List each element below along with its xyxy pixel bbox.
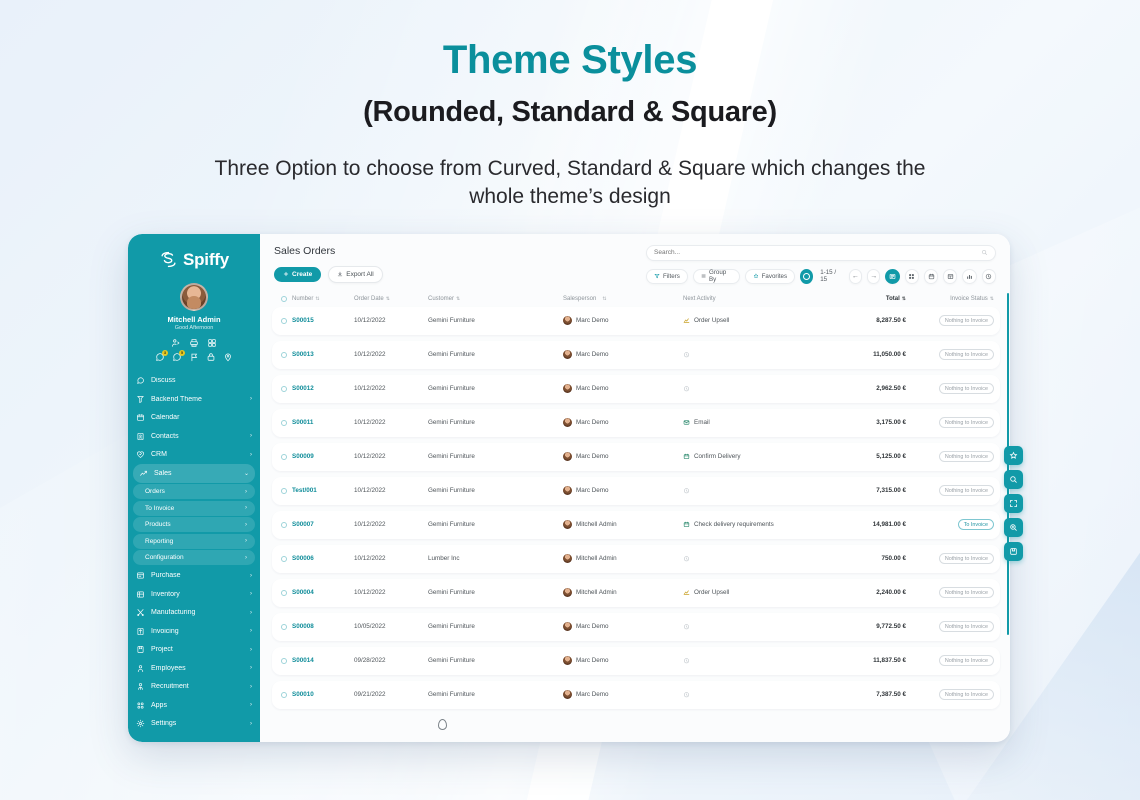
column-header-salesperson[interactable]: Salesperson⇅ — [563, 296, 683, 302]
activity-view-icon — [985, 273, 992, 280]
row-checkbox[interactable] — [276, 692, 292, 698]
user-greeting: Good Afternoon — [128, 325, 260, 331]
cell-invoice-status: Nothing to Invoice — [906, 485, 994, 496]
cell-next-activity — [683, 623, 836, 630]
sidebar-item-label: Manufacturing — [151, 609, 244, 616]
avatar — [563, 588, 572, 597]
sales-icon — [139, 469, 148, 478]
cell-order-date: 10/12/2022 — [354, 555, 428, 562]
calendar-check-icon — [683, 521, 690, 528]
cell-customer: Gemini Furniture — [428, 385, 563, 392]
cell-customer: Gemini Furniture — [428, 317, 563, 324]
sidebar-item-recruitment[interactable]: Recruitment › — [128, 678, 260, 697]
cell-next-activity: Order Upsell — [683, 317, 836, 324]
cell-salesperson: Marc Demo — [563, 452, 683, 461]
sidebar-item-employees[interactable]: Employees › — [128, 659, 260, 678]
radio-icon — [281, 318, 287, 324]
radio-icon — [281, 420, 287, 426]
cell-next-activity — [683, 351, 836, 358]
chevron-right-icon: › — [250, 684, 252, 690]
sort-icon: ⇅ — [456, 296, 460, 302]
table-row[interactable]: S0001210/12/2022Gemini FurnitureMarc Dem… — [272, 375, 1000, 403]
column-header-invoice-status[interactable]: Invoice Status⇅ — [906, 296, 994, 302]
table-zone: Number⇅ Order Date⇅ Customer⇅ Salesperso… — [260, 283, 1010, 742]
mouse-cursor — [438, 719, 447, 730]
sidebar-item-crm[interactable]: CRM › — [128, 446, 260, 465]
sidebar-menu: Discuss Backend Theme › Calendar Contact… — [128, 372, 260, 742]
cell-number[interactable]: S00014 — [292, 657, 354, 664]
radio-icon — [281, 590, 287, 596]
cell-invoice-status: Nothing to Invoice — [906, 621, 994, 632]
sidebar-subitem-label: Orders — [145, 488, 245, 495]
recruitment-icon — [136, 682, 145, 691]
prev-page-button[interactable]: ← — [849, 269, 862, 284]
next-activity-label: Confirm Delivery — [694, 453, 741, 460]
chevron-right-icon: › — [245, 555, 247, 561]
chevron-right-icon: › — [250, 647, 252, 653]
sidebar-item-backend-theme[interactable]: Backend Theme › — [128, 390, 260, 409]
avatar — [563, 384, 572, 393]
print-icon[interactable] — [189, 338, 199, 348]
quick-icons-row-2: 3 5 — [128, 352, 260, 362]
cell-next-activity — [683, 385, 836, 392]
flag-icon[interactable] — [189, 352, 199, 362]
cell-salesperson: Marc Demo — [563, 656, 683, 665]
zoom-in-rail-icon — [1009, 523, 1018, 532]
cell-invoice-status: Nothing to Invoice — [906, 689, 994, 700]
chevron-right-icon: › — [250, 452, 252, 458]
purchase-icon — [136, 571, 145, 580]
cell-total: 14,981.00 € — [836, 521, 906, 528]
group-by-label: Group By — [709, 269, 732, 283]
list-view-button[interactable] — [885, 269, 899, 284]
row-checkbox[interactable] — [276, 454, 292, 460]
row-checkbox[interactable] — [276, 624, 292, 630]
avatar — [563, 656, 572, 665]
settings-icon — [136, 719, 145, 728]
table-row[interactable]: S0000710/12/2022Gemini FurnitureMitchell… — [272, 511, 1000, 539]
search-input[interactable] — [654, 249, 981, 256]
sidebar-subitem-label: Products — [145, 521, 245, 528]
sidebar-item-label: Project — [151, 646, 244, 653]
filter-icon — [654, 273, 660, 279]
chevron-right-icon: › — [250, 433, 252, 439]
next-activity-label: Order Upsell — [694, 589, 729, 596]
user-block[interactable]: Mitchell Admin Good Afternoon — [128, 283, 260, 331]
cell-invoice-status: Nothing to Invoice — [906, 315, 994, 326]
sidebar-item-contacts[interactable]: Contacts › — [128, 427, 260, 446]
cell-salesperson: Mitchell Admin — [563, 588, 683, 597]
sidebar-subitem-to-invoice[interactable]: To Invoice › — [133, 501, 255, 516]
sidebar-subitem-configuration[interactable]: Configuration › — [133, 550, 255, 565]
status-badge: Nothing to Invoice — [939, 587, 994, 598]
status-badge: Nothing to Invoice — [939, 553, 994, 564]
search-box[interactable] — [646, 245, 996, 261]
radio-icon — [281, 522, 287, 528]
pivot-view-icon — [947, 273, 954, 280]
control-bar: Filters Group By Favorites 1-15 / 15 ← — [646, 269, 996, 284]
sidebar-item-settings[interactable]: Settings › — [128, 715, 260, 734]
chevron-right-icon: › — [250, 610, 252, 616]
avatar — [180, 283, 208, 311]
clock-icon — [683, 657, 690, 664]
cell-next-activity: Email — [683, 419, 836, 426]
row-checkbox[interactable] — [276, 386, 292, 392]
next-page-button[interactable]: → — [867, 269, 880, 284]
sort-icon: ⇅ — [990, 296, 994, 302]
cell-salesperson: Marc Demo — [563, 316, 683, 325]
floating-rail — [1004, 446, 1023, 561]
row-checkbox[interactable] — [276, 522, 292, 528]
radio-icon — [281, 386, 287, 392]
avatar — [563, 520, 572, 529]
cell-salesperson: Marc Demo — [563, 486, 683, 495]
favorites-label: Favorites — [762, 273, 787, 280]
cell-order-date: 10/12/2022 — [354, 351, 428, 358]
sidebar-subitem-reporting[interactable]: Reporting › — [133, 534, 255, 549]
cell-total: 2,240.00 € — [836, 589, 906, 596]
cell-order-date: 10/12/2022 — [354, 453, 428, 460]
inventory-icon — [136, 590, 145, 599]
cell-invoice-status: Nothing to Invoice — [906, 655, 994, 666]
table-row[interactable]: S0001009/21/2022Gemini FurnitureMarc Dem… — [272, 681, 1000, 709]
status-badge: Nothing to Invoice — [939, 655, 994, 666]
cell-number[interactable]: S00004 — [292, 589, 354, 596]
column-header-total[interactable]: Total⇅ — [836, 296, 906, 302]
row-checkbox[interactable] — [276, 658, 292, 664]
column-header-next-activity[interactable]: Next Activity — [683, 296, 836, 302]
row-checkbox[interactable] — [276, 488, 292, 494]
table-row[interactable]: S0001310/12/2022Gemini FurnitureMarc Dem… — [272, 341, 1000, 369]
chevron-right-icon: › — [250, 721, 252, 727]
list-lines-icon — [701, 273, 706, 279]
clock-icon — [683, 555, 690, 562]
row-checkbox[interactable] — [276, 352, 292, 358]
cell-customer: Gemini Furniture — [428, 691, 563, 698]
arrow-right-icon: → — [870, 273, 877, 280]
cell-total: 750.00 € — [836, 555, 906, 562]
next-activity-label: Order Upsell — [694, 317, 729, 324]
sidebar-item-label: Inventory — [151, 591, 244, 598]
salesperson-name: Marc Demo — [576, 487, 609, 494]
status-badge: Nothing to Invoice — [939, 349, 994, 360]
app-window: Spiffy Mitchell Admin Good Afternoon — [128, 234, 1010, 742]
activities-badge: 5 — [179, 350, 185, 356]
plus-icon — [283, 271, 289, 277]
cell-next-activity — [683, 487, 836, 494]
main-header: Sales Orders Create Export All — [260, 234, 1010, 283]
status-badge: Nothing to Invoice — [939, 451, 994, 462]
status-badge: Nothing to Invoice — [939, 689, 994, 700]
salesperson-name: Marc Demo — [576, 385, 609, 392]
avatar — [563, 316, 572, 325]
cell-invoice-status: Nothing to Invoice — [906, 383, 994, 394]
cell-number[interactable]: S00013 — [292, 351, 354, 358]
cell-number[interactable]: S00011 — [292, 419, 354, 426]
cell-number[interactable]: S00007 — [292, 521, 354, 528]
create-button[interactable]: Create — [274, 267, 321, 282]
chevron-right-icon: › — [245, 538, 247, 544]
pin-icon[interactable] — [223, 352, 233, 362]
table-row[interactable]: S0000610/12/2022Lumber IncMitchell Admin… — [272, 545, 1000, 573]
sidebar-item-label: Settings — [151, 720, 244, 727]
zoom-in-rail-button[interactable] — [1004, 518, 1023, 537]
sidebar-item-label: Backend Theme — [151, 396, 244, 403]
calendar-check-icon — [683, 453, 690, 460]
sort-icon: ⇅ — [315, 296, 319, 302]
sidebar-item-invoicing[interactable]: Invoicing › — [128, 622, 260, 641]
cell-order-date: 10/05/2022 — [354, 623, 428, 630]
salesperson-name: Mitchell Admin — [576, 521, 617, 528]
favorite-star-rail-button[interactable] — [1004, 446, 1023, 465]
lock-icon[interactable] — [206, 352, 216, 362]
create-button-label: Create — [292, 271, 312, 278]
record-count-label: 1-15 / 15 — [818, 269, 843, 283]
sidebar-item-label: Employees — [151, 665, 244, 672]
apps-grid-icon[interactable] — [207, 338, 217, 348]
calendar-view-icon — [928, 273, 935, 280]
cell-customer: Gemini Furniture — [428, 487, 563, 494]
save-rail-icon — [1009, 547, 1018, 556]
app-window-wrapper: Spiffy Mitchell Admin Good Afternoon — [128, 234, 1010, 742]
record-count-indicator[interactable] — [800, 269, 813, 284]
next-activity-label: Check delivery requirements — [694, 521, 774, 528]
avatar — [563, 452, 572, 461]
column-header-number[interactable]: Number⇅ — [292, 296, 354, 302]
cell-number[interactable]: S00010 — [292, 691, 354, 698]
cell-salesperson: Marc Demo — [563, 350, 683, 359]
cell-number[interactable]: S00006 — [292, 555, 354, 562]
sort-icon: ⇅ — [386, 296, 390, 302]
cell-salesperson: Mitchell Admin — [563, 554, 683, 563]
sidebar-item-label: Sales — [154, 470, 238, 477]
cell-number[interactable]: S00008 — [292, 623, 354, 630]
row-checkbox[interactable] — [276, 556, 292, 562]
kanban-view-button[interactable] — [905, 269, 919, 284]
chevron-right-icon: › — [250, 702, 252, 708]
column-label: Customer — [428, 296, 454, 302]
next-activity-label: Email — [694, 419, 710, 426]
column-header-order-date[interactable]: Order Date⇅ — [354, 296, 428, 302]
clock-icon — [683, 691, 690, 698]
radio-icon — [281, 454, 287, 460]
column-label: Total — [886, 296, 900, 302]
discuss-icon — [136, 376, 145, 385]
status-badge: Nothing to Invoice — [939, 417, 994, 428]
cell-customer: Gemini Furniture — [428, 419, 563, 426]
table-header-row: Number⇅ Order Date⇅ Customer⇅ Salesperso… — [272, 291, 1000, 307]
sidebar-item-inventory[interactable]: Inventory › — [128, 585, 260, 604]
export-all-button[interactable]: Export All — [328, 266, 382, 283]
column-label: Salesperson — [563, 296, 596, 302]
activities-icon[interactable]: 5 — [172, 352, 182, 362]
status-badge: Nothing to Invoice — [939, 621, 994, 632]
column-label: Invoice Status — [950, 296, 988, 302]
sidebar-item-project[interactable]: Project › — [128, 641, 260, 660]
user-switch-icon[interactable] — [171, 338, 181, 348]
row-checkbox[interactable] — [276, 420, 292, 426]
chevron-right-icon: › — [250, 665, 252, 671]
cell-salesperson: Marc Demo — [563, 690, 683, 699]
group-by-button[interactable]: Group By — [693, 269, 740, 284]
sidebar-subitem-label: Configuration — [145, 554, 245, 561]
avatar — [563, 622, 572, 631]
save-rail-button[interactable] — [1004, 542, 1023, 561]
sidebar-item-label: Recruitment — [151, 683, 244, 690]
spiffy-logo-icon — [159, 250, 178, 269]
chart-upsell-icon — [683, 317, 690, 324]
activity-view-button[interactable] — [982, 269, 996, 284]
sidebar-item-apps[interactable]: Apps › — [128, 696, 260, 715]
page-title: Theme Styles — [0, 38, 1140, 82]
cell-total: 2,962.50 € — [836, 385, 906, 392]
cell-order-date: 10/12/2022 — [354, 521, 428, 528]
radio-icon — [281, 488, 287, 494]
brand[interactable]: Spiffy — [128, 244, 260, 276]
contacts-icon — [136, 432, 145, 441]
cell-customer: Gemini Furniture — [428, 657, 563, 664]
favorites-button[interactable]: Favorites — [745, 269, 795, 284]
theme-icon — [136, 395, 145, 404]
salesperson-name: Marc Demo — [576, 623, 609, 630]
quick-icons-row-1 — [128, 338, 260, 348]
clock-icon — [683, 385, 690, 392]
table-body: S0001510/12/2022Gemini FurnitureMarc Dem… — [272, 307, 1000, 709]
clock-icon — [683, 623, 690, 630]
cell-invoice-status: Nothing to Invoice — [906, 451, 994, 462]
table-row[interactable]: S0000410/12/2022Gemini FurnitureMitchell… — [272, 579, 1000, 607]
cell-number[interactable]: S00012 — [292, 385, 354, 392]
cell-invoice-status: Nothing to Invoice — [906, 349, 994, 360]
cell-next-activity — [683, 555, 836, 562]
clock-icon — [683, 351, 690, 358]
employees-icon — [136, 664, 145, 673]
cell-total: 3,175.00 € — [836, 419, 906, 426]
sidebar-item-label: CRM — [151, 451, 244, 458]
cell-customer: Lumber Inc — [428, 555, 563, 562]
chevron-right-icon: › — [250, 628, 252, 634]
sidebar-subitem-label: Reporting — [145, 538, 245, 545]
project-icon — [136, 645, 145, 654]
table-row[interactable]: S0000910/12/2022Gemini FurnitureMarc Dem… — [272, 443, 1000, 471]
cell-number[interactable]: S00009 — [292, 453, 354, 460]
column-label: Number — [292, 296, 313, 302]
graph-view-button[interactable] — [962, 269, 976, 284]
sidebar-subitem-orders[interactable]: Orders › — [133, 484, 255, 499]
status-badge: Nothing to Invoice — [939, 383, 994, 394]
fullscreen-rail-icon — [1009, 499, 1018, 508]
radio-icon — [281, 556, 287, 562]
salesperson-name: Marc Demo — [576, 317, 609, 324]
kanban-view-icon — [908, 273, 915, 280]
cell-invoice-status: To Invoice — [906, 519, 994, 530]
cell-order-date: 09/28/2022 — [354, 657, 428, 664]
calendar-view-button[interactable] — [924, 269, 938, 284]
sidebar-item-manufacturing[interactable]: Manufacturing › — [128, 604, 260, 623]
hero-description: Three Option to choose from Curved, Stan… — [210, 155, 930, 212]
cell-customer: Gemini Furniture — [428, 453, 563, 460]
cell-next-activity: Check delivery requirements — [683, 521, 836, 528]
radio-icon — [281, 692, 287, 698]
chevron-right-icon: › — [250, 573, 252, 579]
search-rail-button[interactable] — [1004, 470, 1023, 489]
select-all-checkbox[interactable] — [276, 296, 292, 302]
messages-icon[interactable]: 3 — [155, 352, 165, 362]
chevron-right-icon: › — [245, 505, 247, 511]
crm-icon — [136, 450, 145, 459]
salesperson-name: Mitchell Admin — [576, 589, 617, 596]
cell-salesperson: Mitchell Admin — [563, 520, 683, 529]
salesperson-name: Marc Demo — [576, 351, 609, 358]
manufacturing-icon — [136, 608, 145, 617]
sort-icon: ⇅ — [902, 296, 906, 302]
cell-order-date: 09/21/2022 — [354, 691, 428, 698]
sidebar-item-discuss[interactable]: Discuss — [128, 372, 260, 391]
cell-customer: Gemini Furniture — [428, 623, 563, 630]
cell-total: 11,050.00 € — [836, 351, 906, 358]
sidebar-item-label: Apps — [151, 702, 244, 709]
sidebar-item-label: Invoicing — [151, 628, 244, 635]
cell-salesperson: Marc Demo — [563, 622, 683, 631]
list-view-icon — [889, 273, 896, 280]
sidebar-item-purchase[interactable]: Purchase › — [128, 567, 260, 586]
user-name: Mitchell Admin — [128, 315, 260, 324]
invoicing-icon — [136, 627, 145, 636]
cell-customer: Gemini Furniture — [428, 589, 563, 596]
table-row[interactable]: Test/00110/12/2022Gemini FurnitureMarc D… — [272, 477, 1000, 505]
cell-order-date: 10/12/2022 — [354, 385, 428, 392]
hero-subtitle: (Rounded, Standard & Square) — [0, 96, 1140, 129]
cell-total: 5,125.00 € — [836, 453, 906, 460]
column-header-customer[interactable]: Customer⇅ — [428, 296, 563, 302]
chevron-right-icon: › — [250, 396, 252, 402]
table-row[interactable]: S0000810/05/2022Gemini FurnitureMarc Dem… — [272, 613, 1000, 641]
search-icon[interactable] — [981, 249, 988, 256]
fullscreen-rail-button[interactable] — [1004, 494, 1023, 513]
cell-total: 7,387.50 € — [836, 691, 906, 698]
cell-order-date: 10/12/2022 — [354, 589, 428, 596]
sidebar-item-sales[interactable]: Sales ⌄ — [133, 464, 255, 483]
cell-next-activity — [683, 691, 836, 698]
apps-icon — [136, 701, 145, 710]
chart-upsell-icon — [683, 589, 690, 596]
pivot-view-button[interactable] — [943, 269, 957, 284]
main-content: Sales Orders Create Export All — [260, 234, 1010, 742]
favorite-star-rail-icon — [1009, 451, 1018, 460]
chevron-right-icon: › — [245, 489, 247, 495]
cell-order-date: 10/12/2022 — [354, 487, 428, 494]
sidebar-item-label: Calendar — [151, 414, 252, 421]
table-row[interactable]: S0001110/12/2022Gemini FurnitureMarc Dem… — [272, 409, 1000, 437]
sidebar-item-calendar[interactable]: Calendar — [128, 409, 260, 428]
table-row[interactable]: S0001510/12/2022Gemini FurnitureMarc Dem… — [272, 307, 1000, 335]
cell-invoice-status: Nothing to Invoice — [906, 553, 994, 564]
filters-button[interactable]: Filters — [646, 269, 688, 284]
cell-invoice-status: Nothing to Invoice — [906, 417, 994, 428]
sidebar-item-label: Contacts — [151, 433, 244, 440]
avatar — [563, 418, 572, 427]
status-badge: Nothing to Invoice — [939, 315, 994, 326]
row-checkbox[interactable] — [276, 318, 292, 324]
radio-icon — [281, 624, 287, 630]
messages-badge: 3 — [162, 350, 168, 356]
clock-icon — [683, 487, 690, 494]
table-row[interactable]: S0001409/28/2022Gemini FurnitureMarc Dem… — [272, 647, 1000, 675]
row-checkbox[interactable] — [276, 590, 292, 596]
cell-number[interactable]: Test/001 — [292, 487, 354, 494]
sidebar-subitem-products[interactable]: Products › — [133, 517, 255, 532]
cell-number[interactable]: S00015 — [292, 317, 354, 324]
